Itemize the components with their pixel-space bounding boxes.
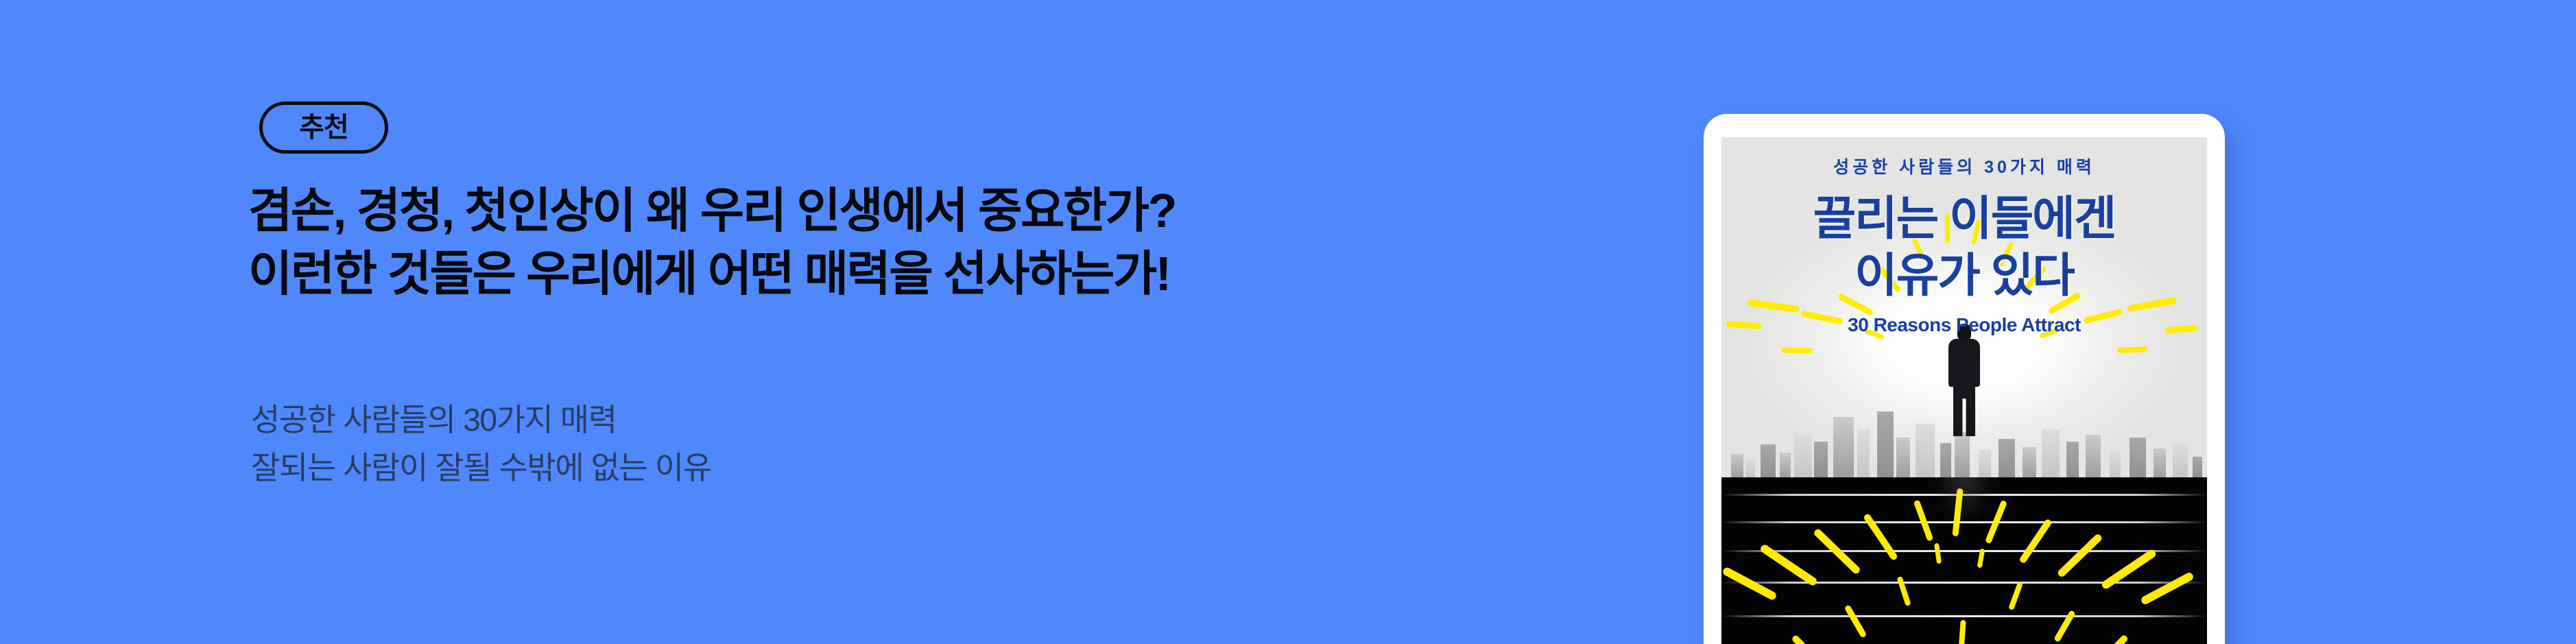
cover-title-line-1: 끌리는 이들에겐 <box>1721 191 2207 248</box>
businessman-silhouette-icon <box>1948 324 1980 435</box>
banner-text-column: 추천 겸손, 경청, 첫인상이 왜 우리 인생에서 중요한가? 이런한 것들은 … <box>248 0 1620 644</box>
book-cover-card[interactable]: 성공한 사람들의 30가지 매력 끌리는 이들에겐 이유가 있다 30 Reas… <box>1704 114 2225 644</box>
banner-headline: 겸손, 경청, 첫인상이 왜 우리 인생에서 중요한가? 이런한 것들은 우리에… <box>248 180 1176 305</box>
promo-banner: 추천 겸손, 경청, 첫인상이 왜 우리 인생에서 중요한가? 이런한 것들은 … <box>0 0 2576 644</box>
subtext-line-1: 성공한 사람들의 30가지 매력 <box>251 396 711 444</box>
banner-subtext: 성공한 사람들의 30가지 매력 잘되는 사람이 잘될 수밖에 없는 이유 <box>251 396 711 492</box>
recommendation-badge-label: 추천 <box>299 114 348 141</box>
cover-english-subtitle: 30 Reasons People Attract <box>1721 314 2207 336</box>
subtext-line-2: 잘되는 사람이 잘될 수밖에 없는 이유 <box>251 444 711 492</box>
headline-line-1: 겸손, 경청, 첫인상이 왜 우리 인생에서 중요한가? <box>248 180 1176 243</box>
cover-top-line: 성공한 사람들의 30가지 매력 <box>1721 154 2207 178</box>
recommendation-badge[interactable]: 추천 <box>259 102 388 154</box>
cover-title-line-2: 이유가 있다 <box>1721 248 2207 305</box>
book-cover-image: 성공한 사람들의 30가지 매력 끌리는 이들에겐 이유가 있다 30 Reas… <box>1721 137 2207 644</box>
cover-title: 끌리는 이들에겐 이유가 있다 <box>1721 191 2207 305</box>
headline-line-2: 이런한 것들은 우리에게 어떤 매력을 선사하는가! <box>248 243 1176 306</box>
